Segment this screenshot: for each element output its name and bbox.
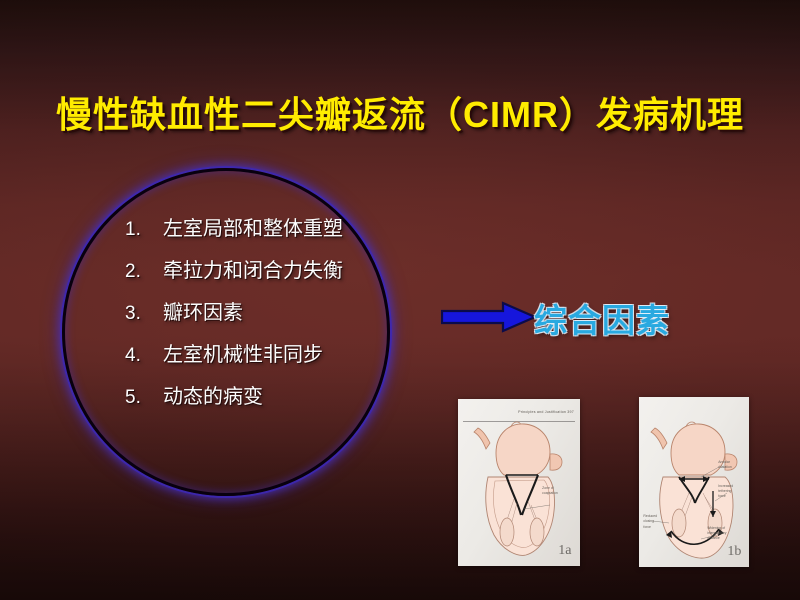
photo-annotation: force [718, 494, 726, 498]
list-item-number: 5. [125, 387, 163, 409]
list-item-label: 左室机械性非同步 [163, 338, 455, 367]
photo-annotation: Widening of [707, 526, 725, 530]
slide-title: 慢性缺血性二尖瓣返流（CIMR）发病机理 [0, 86, 800, 138]
list-item-label: 牵拉力和闭合力失衡 [163, 254, 455, 283]
heart-diagram-1b: Annular dilatation Increased tethering f… [639, 397, 749, 567]
photo-caption: 1b [727, 544, 741, 560]
list-item-label: 动态的病变 [163, 380, 455, 409]
list-item-number: 1. [125, 219, 163, 241]
list-item-number: 2. [125, 261, 163, 283]
list-item-number: 4. [125, 345, 163, 367]
list-item-number: 3. [125, 303, 163, 325]
right-arrow-icon [441, 299, 537, 335]
photo-annotation: dilatation [718, 465, 732, 469]
conclusion-label: 综合因素 [534, 294, 670, 342]
heart-diagram-1a: Principles and Justification 397 [458, 399, 580, 566]
photo-annotation: Reduced [643, 514, 657, 518]
list-item: 1. 左室局部和整体重塑 [125, 212, 455, 241]
photo-caption: 1a [558, 543, 571, 559]
presentation-slide: 慢性缺血性二尖瓣返流（CIMR）发病机理 1. 左室局部和整体重塑 2. 牵拉力… [0, 0, 800, 600]
photo-annotation: interpapillary [707, 531, 726, 535]
photo-annotation: coaptation [542, 491, 558, 495]
list-item: 2. 牵拉力和闭合力失衡 [125, 254, 455, 283]
list-item-label: 左室局部和整体重塑 [163, 212, 455, 241]
photo-annotation: Increased [718, 484, 733, 488]
photo-annotation: distance [707, 536, 720, 540]
photo-annotation: force [643, 525, 651, 529]
list-item: 5. 动态的病变 [125, 380, 455, 409]
photo-annotation: closing [643, 519, 654, 523]
heart-illustration [639, 397, 749, 567]
list-item-label: 瓣环因素 [163, 296, 455, 325]
photo-annotation: Zone of [542, 486, 554, 490]
heart-illustration [458, 399, 580, 566]
mechanism-list: 1. 左室局部和整体重塑 2. 牵拉力和闭合力失衡 3. 瓣环因素 4. 左室机… [125, 212, 455, 422]
photo-annotation: tethering [718, 489, 731, 493]
list-item: 3. 瓣环因素 [125, 296, 455, 325]
photo-annotation: Annular [718, 460, 730, 464]
list-item: 4. 左室机械性非同步 [125, 338, 455, 367]
